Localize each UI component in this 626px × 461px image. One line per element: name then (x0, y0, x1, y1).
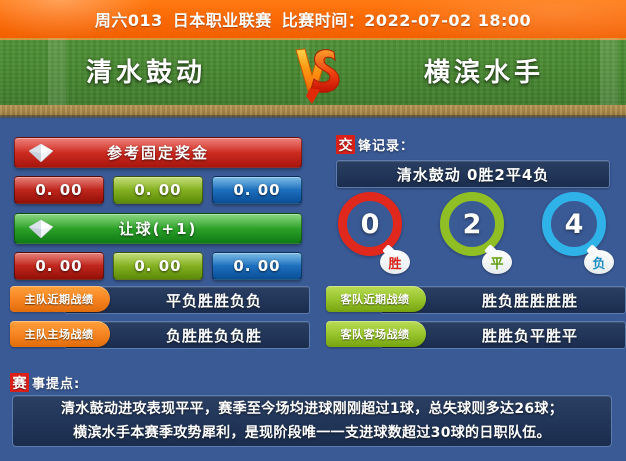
away-away-form-value: 胜胜负平胜平 (428, 325, 578, 346)
h2h-circle-lose: 4 负 (540, 192, 612, 274)
pitch-dirt-strip (0, 105, 626, 118)
header-time-value: 2022-07-02 18:00 (364, 11, 531, 30)
fixed-odd-draw-value: 0. 00 (134, 181, 181, 199)
away-recent-form-tab: 客队近期战绩 (326, 286, 426, 312)
fixed-prize-title-bar[interactable]: 参考固定奖金 (14, 137, 302, 168)
handicap-title-bar[interactable]: 让球(+1) (14, 213, 302, 244)
h2h-summary-bar: 清水鼓动 0胜2平4负 (336, 160, 610, 188)
h2h-ring-lose: 4 (542, 192, 606, 256)
handicap-odd-lose-value: 0. 00 (233, 257, 280, 275)
header-league: 日本职业联赛 (173, 11, 272, 30)
fixed-odd-win[interactable]: 0. 00 (14, 176, 104, 204)
home-form-column: 平负胜胜负负 主队近期战绩 负胜胜负负胜 主队主场战绩 (10, 286, 310, 356)
analysis-badge-icon: 赛 (10, 373, 29, 392)
fixed-odds-row: 0. 00 0. 00 0. 00 (14, 176, 302, 204)
h2h-draw-label: 平 (490, 253, 503, 272)
match-preview-page: 周六013日本职业联赛比赛时间：2022-07-02 18:00 清水鼓动 横滨… (0, 0, 626, 461)
away-recent-form-row[interactable]: 胜负胜胜胜胜 客队近期战绩 (326, 286, 626, 312)
handicap-odd-draw[interactable]: 0. 00 (113, 252, 203, 280)
h2h-circle-win: 0 胜 (336, 192, 408, 274)
away-away-form-row[interactable]: 胜胜负平胜平 客队客场战绩 (326, 321, 626, 347)
away-away-form-tab: 客队客场战绩 (326, 321, 426, 347)
home-home-form-row[interactable]: 负胜胜负负胜 主队主场战绩 (10, 321, 310, 347)
home-recent-form-tab: 主队近期战绩 (10, 286, 110, 312)
fixed-odd-lose-value: 0. 00 (233, 181, 280, 199)
h2h-win-count: 0 (361, 211, 380, 238)
home-home-form-value: 负胜胜负负胜 (112, 325, 262, 346)
vs-icon (290, 44, 342, 106)
h2h-draw-badge: 平 (482, 250, 512, 274)
fixed-odd-lose[interactable]: 0. 00 (212, 176, 302, 204)
analysis-text-box: 清水鼓动进攻表现平平，赛季至今场均进球刚刚超过1球，总失球则多达26球； 横滨水… (12, 395, 612, 447)
analysis-section: 赛 事提点: 清水鼓动进攻表现平平，赛季至今场均进球刚刚超过1球，总失球则多达2… (0, 370, 626, 461)
analysis-heading: 赛 事提点: (10, 373, 80, 392)
h2h-lose-badge: 负 (584, 250, 614, 274)
analysis-line-1: 清水鼓动进攻表现平平，赛季至今场均进球刚刚超过1球，总失球则多达26球； (61, 397, 563, 421)
h2h-draw-count: 2 (463, 211, 482, 238)
handicap-odds-row: 0. 00 0. 00 0. 00 (14, 252, 302, 280)
h2h-heading: 交 锋记录： (336, 135, 414, 154)
h2h-badge-icon: 交 (336, 135, 355, 154)
away-team-name: 横滨水手 (424, 52, 544, 89)
h2h-heading-text: 锋记录： (358, 135, 414, 154)
header-match-no: 周六013 (95, 11, 163, 30)
fixed-prize-title: 参考固定奖金 (107, 142, 209, 163)
diamond-gem-icon (29, 144, 53, 162)
handicap-odd-win[interactable]: 0. 00 (14, 252, 104, 280)
odds-panel: 参考固定奖金 0. 00 0. 00 0. 00 让球(+1) 0. 00 0.… (0, 128, 316, 278)
h2h-ring-win: 0 (338, 192, 402, 256)
pitch-top-line (0, 38, 626, 40)
handicap-odd-lose[interactable]: 0. 00 (212, 252, 302, 280)
home-home-form-tab: 主队主场战绩 (10, 321, 110, 347)
h2h-summary-text: 清水鼓动 0胜2平4负 (397, 164, 550, 185)
home-team-name: 清水鼓动 (86, 52, 206, 89)
h2h-win-badge: 胜 (380, 250, 410, 274)
away-recent-form-value: 胜负胜胜胜胜 (428, 290, 578, 311)
analysis-heading-text: 事提点: (32, 373, 80, 392)
h2h-circle-draw: 2 平 (438, 192, 510, 274)
analysis-line-2: 横滨水手本赛季攻势犀利，是现阶段唯一一支进球数超过30球的日职队伍。 (73, 421, 551, 445)
fixed-odd-draw[interactable]: 0. 00 (113, 176, 203, 204)
away-form-column: 胜负胜胜胜胜 客队近期战绩 胜胜负平胜平 客队客场战绩 (326, 286, 626, 356)
home-recent-form-value: 平负胜胜负负 (112, 290, 262, 311)
pitch-stripe (48, 38, 66, 105)
head-to-head-panel: 交 锋记录： 清水鼓动 0胜2平4负 0 胜 2 平 4 (316, 128, 626, 278)
h2h-ring-draw: 2 (440, 192, 504, 256)
handicap-odd-draw-value: 0. 00 (134, 257, 181, 275)
h2h-win-label: 胜 (388, 253, 401, 272)
form-section: 平负胜胜负负 主队近期战绩 负胜胜负负胜 主队主场战绩 胜负胜胜胜胜 客队近期战… (0, 286, 626, 362)
handicap-title: 让球(+1) (119, 218, 198, 239)
h2h-circles: 0 胜 2 平 4 负 (336, 192, 612, 274)
h2h-lose-label: 负 (592, 253, 605, 272)
handicap-odd-win-value: 0. 00 (35, 257, 82, 275)
header-title: 周六013日本职业联赛比赛时间：2022-07-02 18:00 (95, 7, 531, 31)
page-header: 周六013日本职业联赛比赛时间：2022-07-02 18:00 (0, 0, 626, 38)
diamond-gem-icon (29, 220, 53, 238)
h2h-lose-count: 4 (565, 211, 584, 238)
fixed-odd-win-value: 0. 00 (35, 181, 82, 199)
header-time-label: 比赛时间： (282, 11, 365, 30)
pitch-stripe (600, 38, 618, 105)
home-recent-form-row[interactable]: 平负胜胜负负 主队近期战绩 (10, 286, 310, 312)
